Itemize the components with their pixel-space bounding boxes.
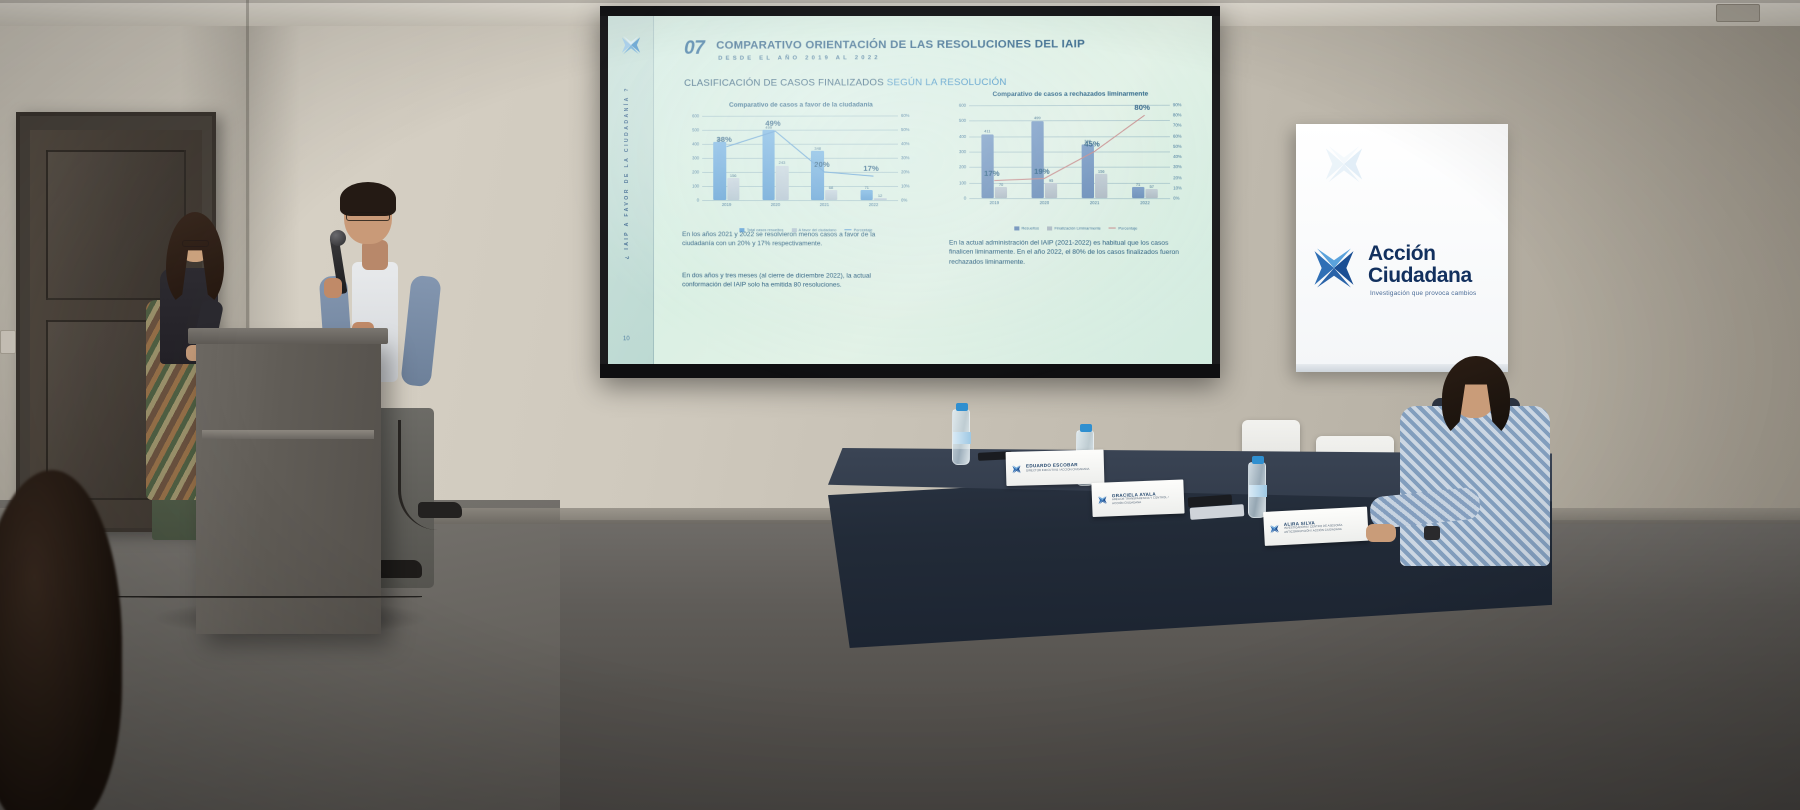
panelist-hand bbox=[1366, 524, 1396, 542]
podium-top bbox=[188, 328, 388, 344]
chart-y-tick-right: 60% bbox=[1173, 133, 1182, 138]
chart-y-tick-right: 60% bbox=[901, 113, 910, 118]
chart-y-tick: 300 bbox=[959, 149, 966, 154]
man-hair bbox=[340, 182, 396, 216]
chart-y-tick-right: 10% bbox=[901, 183, 910, 188]
chart-y-tick-right: 50% bbox=[1173, 144, 1182, 149]
chart-legend-item: Resueltos bbox=[1014, 225, 1039, 230]
man-hand-left bbox=[324, 278, 342, 298]
slide-number: 07 bbox=[684, 38, 704, 60]
chart-casos-a-favor: Comparativo de casos a favor de la ciuda… bbox=[680, 101, 922, 220]
chart-y-tick: 400 bbox=[959, 134, 966, 139]
chart-legend-item: Finalización Liminarmente bbox=[1047, 225, 1101, 230]
projection-screen: ¿ IAIP A FAVOR DE LA CIUDADANÍA ? 10 07 … bbox=[600, 6, 1220, 378]
chart-trend-line bbox=[702, 115, 898, 200]
microphone-head-icon bbox=[330, 230, 346, 246]
namecard: GRACIELA AYALA ÁREA DE TRANSPARENCIA Y C… bbox=[1091, 479, 1184, 517]
floor-cable bbox=[112, 596, 422, 598]
chart-y-tick-right: 20% bbox=[901, 169, 910, 174]
banner-line1: Acción bbox=[1368, 242, 1436, 266]
bottle-cap bbox=[1080, 424, 1092, 432]
slide-page-number: 10 bbox=[623, 336, 630, 342]
section-heading-plain: CLASIFICACIÓN DE CASOS FINALIZADOS bbox=[684, 77, 887, 89]
slide-paragraph-right: En la actual administración del IAIP (20… bbox=[949, 238, 1190, 267]
slide-paragraph-left-2: En dos años y tres meses (al cierre de d… bbox=[682, 271, 899, 291]
panelist-body bbox=[1400, 406, 1550, 566]
chart-y-tick: 0 bbox=[964, 196, 966, 201]
slide-title: COMPARATIVO ORIENTACIÓN DE LAS RESOLUCIO… bbox=[716, 38, 1212, 52]
conference-room-scene: ¿ IAIP A FAVOR DE LA CIUDADANÍA ? 10 07 … bbox=[0, 0, 1800, 810]
chart-y-tick-right: 10% bbox=[1173, 185, 1182, 190]
bottle-label bbox=[1249, 485, 1267, 497]
screen-canvas: ¿ IAIP A FAVOR DE LA CIUDADANÍA ? 10 07 … bbox=[608, 16, 1212, 364]
chart-y-tick-right: 80% bbox=[1173, 113, 1182, 118]
chart-plot-area: 01002003004005006000%10%20%30%40%50%60%7… bbox=[969, 105, 1170, 198]
namecard-text: ALIRA SILVA INVESTIGADORA / CENTRO DE AS… bbox=[1284, 517, 1364, 534]
chart-y-tick-right: 0% bbox=[901, 198, 907, 203]
bottle-cap bbox=[1252, 456, 1264, 464]
ceiling-vent bbox=[1716, 4, 1760, 22]
panelist-watch bbox=[1424, 526, 1440, 540]
water-bottle-icon bbox=[952, 409, 970, 465]
chart-y-tick: 600 bbox=[692, 113, 699, 118]
chart-casos-rechazados: Comparativo de casos a rechazados limina… bbox=[947, 91, 1195, 219]
chart-y-tick-right: 70% bbox=[1173, 123, 1182, 128]
chart-y-tick: 100 bbox=[959, 180, 966, 185]
chart-y-tick: 0 bbox=[697, 198, 699, 203]
namecard-role: INVESTIGADORA / CENTRO DE ASESORÍA ANTIC… bbox=[1284, 523, 1363, 534]
presentation-slide: ¿ IAIP A FAVOR DE LA CIUDADANÍA ? 10 07 … bbox=[608, 16, 1212, 364]
podium-band bbox=[202, 430, 374, 439]
namecard: EDUARDO ESCOBAR DIRECTOR EJECUTIVO / ACC… bbox=[1006, 449, 1105, 486]
screen-top-bar bbox=[600, 6, 1220, 16]
namecard-text: GRACIELA AYALA ÁREA DE TRANSPARENCIA Y C… bbox=[1112, 490, 1179, 506]
banner-line2: Ciudadana bbox=[1368, 264, 1472, 288]
acciones-x-logo-icon bbox=[618, 32, 644, 58]
man-glasses bbox=[346, 212, 390, 221]
ceiling-seam bbox=[0, 0, 1800, 3]
chart-legend-item: Porcentaje bbox=[1109, 225, 1137, 230]
man-neck bbox=[362, 240, 388, 270]
acciones-x-logo-icon bbox=[1011, 463, 1022, 474]
slide-rail-text: ¿ IAIP A FAVOR DE LA CIUDADANÍA ? bbox=[624, 86, 630, 259]
slide-subtitle: DESDE EL AÑO 2019 AL 2022 bbox=[718, 55, 881, 62]
chart-gridline bbox=[969, 198, 1170, 199]
acciones-x-logo-icon bbox=[1097, 494, 1108, 505]
acciones-x-logo-icon bbox=[1308, 242, 1360, 294]
bottle-cap bbox=[956, 403, 968, 411]
chart-y-tick-right: 20% bbox=[1173, 175, 1182, 180]
chart-y-tick-right: 0% bbox=[1173, 196, 1179, 201]
chart-y-tick-right: 40% bbox=[901, 141, 910, 146]
woman-glasses bbox=[182, 240, 209, 247]
namecard: ALIRA SILVA INVESTIGADORA / CENTRO DE AS… bbox=[1263, 507, 1369, 546]
chart-y-tick-right: 30% bbox=[901, 155, 910, 160]
rollup-banner: Acción Ciudadana Investigación que provo… bbox=[1296, 124, 1508, 372]
chart-y-tick-right: 90% bbox=[1173, 102, 1182, 107]
section-heading-accent: SEGÚN LA RESOLUCIÓN bbox=[887, 77, 1007, 88]
chart-y-tick-right: 40% bbox=[1173, 154, 1182, 159]
chart-gridline bbox=[702, 200, 898, 201]
slide-paragraph-left-1: En los años 2021 y 2022 se resolvieron m… bbox=[682, 230, 899, 249]
water-bottle-icon bbox=[1248, 462, 1266, 518]
chart-y-tick: 500 bbox=[959, 118, 966, 123]
slide-section-heading: CLASIFICACIÓN DE CASOS FINALIZADOS SEGÚN… bbox=[684, 77, 1007, 89]
acciones-x-logo-icon bbox=[1269, 523, 1281, 535]
chart-y-tick-right: 30% bbox=[1173, 164, 1182, 169]
chart-title: Comparativo de casos a favor de la ciuda… bbox=[680, 101, 922, 109]
chart-y-tick: 300 bbox=[692, 155, 699, 160]
namecard-role: ÁREA DE TRANSPARENCIA Y CONTROL / ACCIÓN… bbox=[1112, 496, 1179, 506]
chart-y-tick: 500 bbox=[692, 127, 699, 132]
chart-y-tick: 600 bbox=[959, 103, 966, 108]
chart-plot-area: 01002003004005006000%10%20%30%40%50%60%4… bbox=[702, 115, 898, 200]
chart-y-tick: 200 bbox=[692, 169, 699, 174]
chart-title: Comparativo de casos a rechazados limina… bbox=[947, 91, 1195, 99]
slide-side-rail: ¿ IAIP A FAVOR DE LA CIUDADANÍA ? 10 bbox=[608, 16, 654, 364]
chart-legend: ResueltosFinalización LiminarmentePorcen… bbox=[957, 225, 1195, 230]
namecard-role: DIRECTOR EJECUTIVO / ACCIÓN CIUDADANA bbox=[1026, 468, 1089, 473]
banner-watermark-logo-icon bbox=[1314, 138, 1374, 190]
screen-bottom-bar bbox=[600, 364, 1220, 378]
bottle-label bbox=[953, 432, 971, 444]
podium bbox=[196, 338, 381, 634]
chart-trend-line bbox=[969, 105, 1170, 198]
chart-y-tick: 200 bbox=[959, 165, 966, 170]
slide-body: 07 COMPARATIVO ORIENTACIÓN DE LAS RESOLU… bbox=[654, 16, 1212, 364]
banner-tagline: Investigación que provoca cambios bbox=[1370, 290, 1476, 297]
chart-y-tick: 100 bbox=[692, 183, 699, 188]
chart-y-tick: 400 bbox=[692, 141, 699, 146]
chart-y-tick-right: 50% bbox=[901, 127, 910, 132]
namecard-text: EDUARDO ESCOBAR DIRECTOR EJECUTIVO / ACC… bbox=[1026, 462, 1090, 473]
man-shoe-front bbox=[378, 560, 422, 578]
light-switch[interactable] bbox=[0, 330, 16, 354]
